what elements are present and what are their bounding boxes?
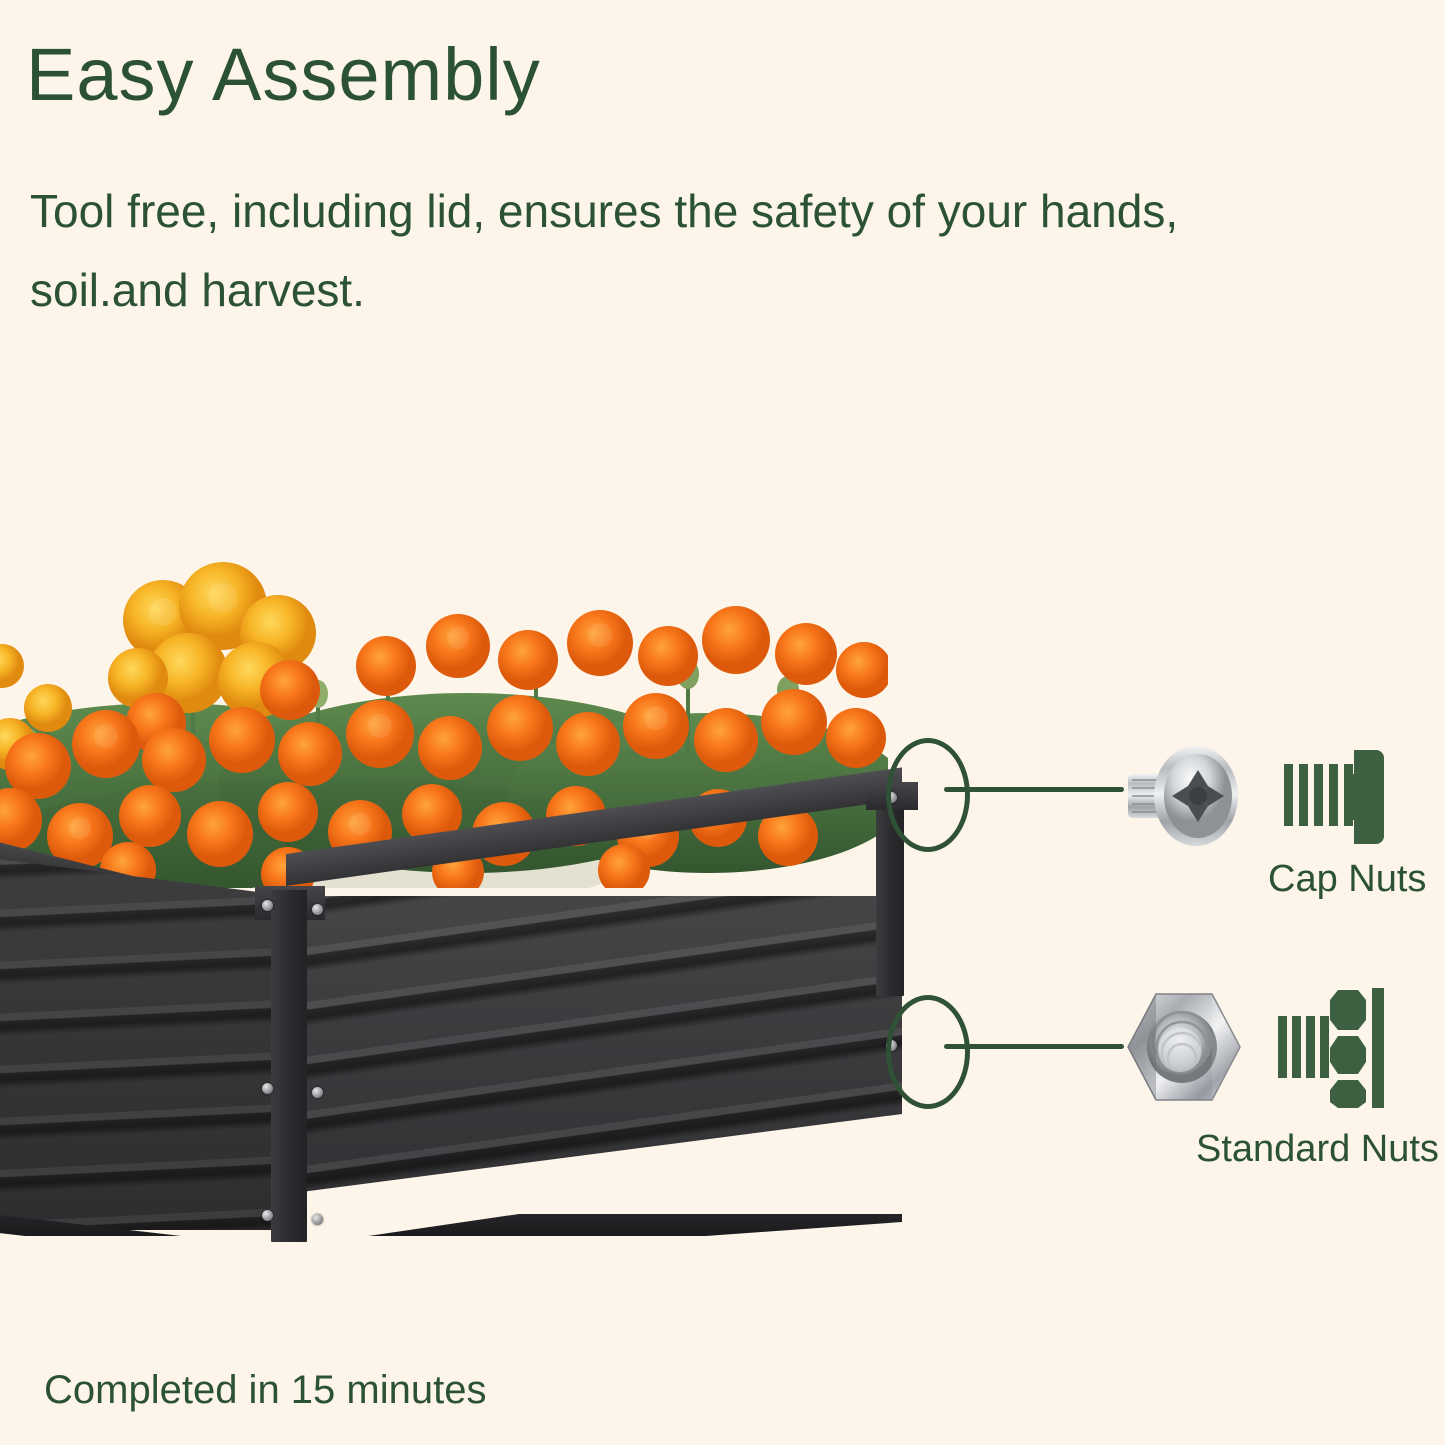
hex-nut-photo <box>1120 988 1246 1106</box>
raised-garden-bed <box>0 800 940 1300</box>
screw-bottom-right <box>312 1214 323 1225</box>
callout-line-cap-nuts <box>944 787 1124 792</box>
corrugation-left <box>0 858 290 1230</box>
screw-mid-right <box>312 1087 323 1098</box>
screw-top-left <box>262 900 273 911</box>
screw-bottom-left <box>262 1210 273 1221</box>
completion-time-note: Completed in 15 minutes <box>44 1368 486 1413</box>
infographic-canvas: Easy Assembly Tool free, including lid, … <box>0 0 1445 1445</box>
planter-panel-left <box>0 858 290 1230</box>
screw-top-right <box>312 904 323 915</box>
corrugation-right <box>286 896 902 1194</box>
cap-nut-bolt-photo <box>1124 744 1244 850</box>
screw-mid-left <box>262 1083 273 1094</box>
corner-post <box>271 890 307 1242</box>
standard-nuts-label: Standard Nuts <box>1196 1128 1439 1171</box>
planter-panel-right <box>286 896 902 1194</box>
cap-nuts-label: Cap Nuts <box>1268 858 1426 901</box>
cap-nut-schematic <box>1282 746 1386 848</box>
page-subtitle: Tool free, including lid, ensures the sa… <box>30 172 1310 330</box>
standard-nut-schematic <box>1276 986 1388 1110</box>
page-title: Easy Assembly <box>26 38 541 112</box>
callout-line-standard-nuts <box>944 1044 1124 1049</box>
callout-highlight-standard-nuts <box>886 995 970 1109</box>
callout-highlight-cap-nuts <box>886 738 970 852</box>
